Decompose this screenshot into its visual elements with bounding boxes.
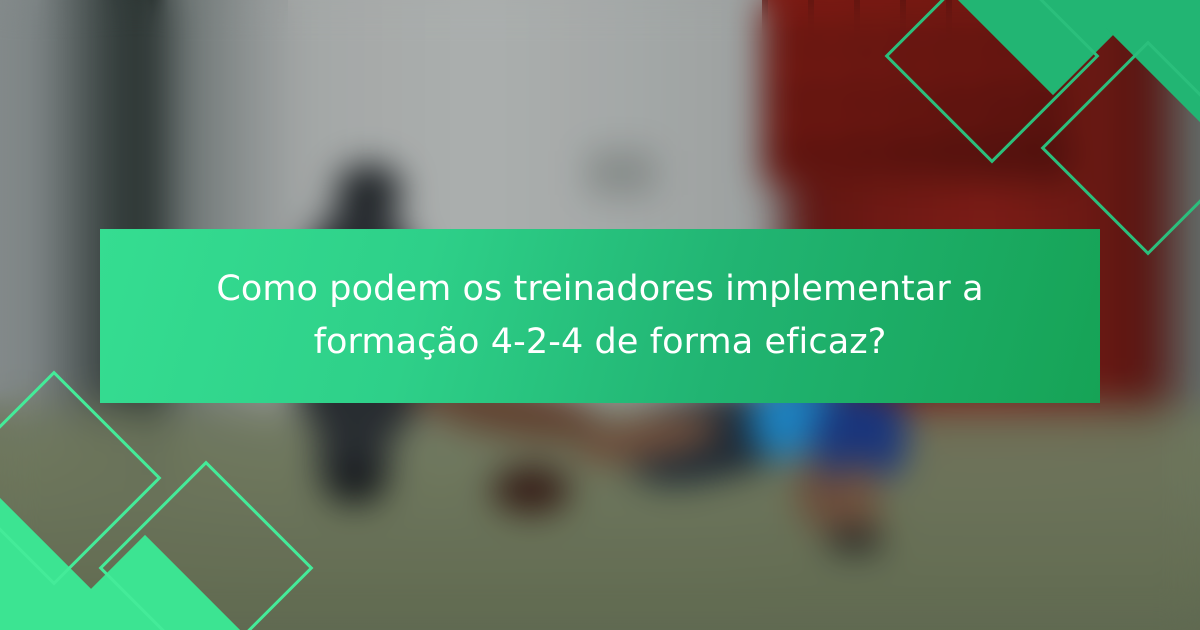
title-banner: Como podem os treinadores implementar a …: [100, 229, 1100, 403]
share-card: Como podem os treinadores implementar a …: [0, 0, 1200, 630]
banner-title-text: Como podem os treinadores implementar a …: [160, 263, 1040, 369]
